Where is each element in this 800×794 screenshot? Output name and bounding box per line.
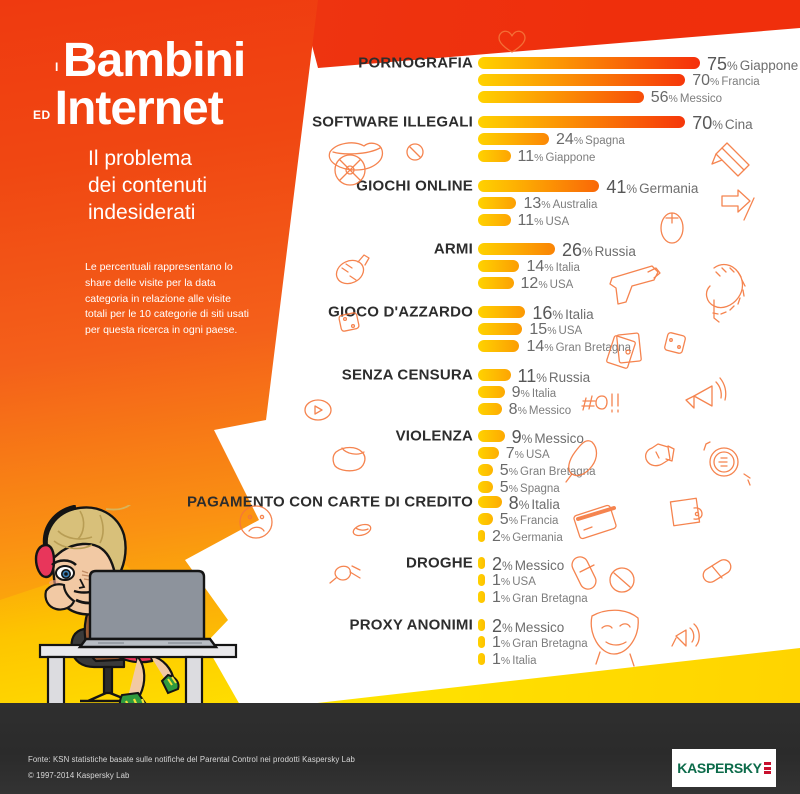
bar-percent-value: 75 [707, 54, 727, 74]
bar-value-label: 13%Australia [523, 195, 597, 213]
bar [478, 277, 514, 289]
bar-percent-sign: % [509, 466, 518, 478]
bar-percent-value: 15 [529, 321, 547, 338]
bar-country-label: Giappone [546, 152, 596, 164]
bar-country-label: Francia [520, 515, 558, 527]
bar-percent-sign: % [544, 342, 553, 354]
bar-value-label: 70%Cina [692, 113, 752, 134]
bar-country-label: Messico [515, 620, 565, 635]
bar-percent-sign: % [626, 182, 637, 196]
bar-percent-value: 13 [523, 195, 541, 212]
bar-country-label: Italia [531, 497, 560, 512]
bar [478, 133, 549, 145]
bar-percent-value: 24 [556, 131, 574, 148]
bar-percent-value: 12 [521, 275, 539, 292]
bar [478, 57, 700, 69]
bar-percent-value: 5 [500, 479, 509, 496]
bar [478, 513, 493, 525]
bar-value-label: 1%Gran Bretagna [492, 634, 588, 652]
bar-value-label: 11%Giappone [518, 148, 596, 166]
bar-percent-value: 1 [492, 634, 501, 651]
kaspersky-logo-text: KASPERSKY [677, 760, 761, 776]
bar-percent-value: 11 [518, 148, 535, 165]
bar-percent-value: 7 [506, 445, 515, 462]
bar-row: 56%Messico [478, 91, 722, 103]
bar-percent-sign: % [669, 93, 678, 105]
bar-row: 2%Germania [478, 530, 563, 542]
bar-percent-value: 14 [526, 338, 544, 355]
bar-row: 41%Germania [478, 180, 698, 192]
bar [478, 74, 685, 86]
bar-country-label: Italia [532, 388, 556, 400]
bar-row: 5%Gran Bretagna [478, 464, 595, 476]
bar-row: 5%Francia [478, 513, 558, 525]
kaspersky-logo[interactable]: KASPERSKY [672, 749, 776, 787]
bar-percent-value: 2 [492, 616, 502, 636]
bar [478, 116, 685, 128]
bar-row: 75%Giappone [478, 57, 798, 69]
bar-percent-value: 9 [512, 427, 522, 447]
bar-percent-value: 11 [518, 366, 537, 386]
bar-value-label: 9%Italia [512, 384, 557, 402]
footer-copyright: © 1997-2014 Kaspersky Lab [28, 768, 355, 784]
bar-percent-sign: % [501, 532, 510, 544]
category-label: PORNOGRAFIA [358, 55, 473, 72]
category-label: VIOLENZA [396, 428, 473, 445]
bar-row: 11%Giappone [478, 150, 595, 162]
bar [478, 323, 522, 335]
bar-row: 1%Gran Bretagna [478, 636, 588, 648]
bar-row: 9%Messico [478, 430, 584, 442]
bar-value-label: 11%USA [518, 212, 570, 230]
bar [478, 91, 644, 103]
bar [478, 197, 516, 209]
bar [478, 243, 555, 255]
bar-country-label: Germania [639, 181, 698, 196]
bar-country-label: Russia [549, 370, 590, 385]
bar-percent-value: 8 [509, 493, 519, 513]
bar-row: 14%Italia [478, 260, 580, 272]
bar-percent-value: 56 [651, 89, 669, 106]
bar-row: 70%Francia [478, 74, 760, 86]
bar [478, 496, 502, 508]
bar-percent-sign: % [518, 405, 527, 417]
bar [478, 591, 485, 603]
category-label: ARMI [434, 241, 473, 258]
bar-value-label: 15%USA [529, 321, 582, 339]
bar-value-label: 2%Germania [492, 528, 563, 546]
bar-row: 70%Cina [478, 116, 753, 128]
footer-source: Fonte: KSN statistiche basate sulle noti… [28, 752, 355, 768]
bar [478, 430, 505, 442]
bar-row: 1%USA [478, 574, 536, 586]
bar [478, 530, 485, 542]
bar-percent-sign: % [501, 593, 510, 605]
bar [478, 340, 519, 352]
bar-value-label: 7%USA [506, 445, 550, 463]
bar-percent-sign: % [574, 135, 583, 147]
bar [478, 636, 485, 648]
bar-percent-value: 11 [518, 212, 535, 229]
bar-percent-sign: % [552, 308, 563, 322]
bar-row: 8%Italia [478, 496, 560, 508]
bar-row: 7%USA [478, 447, 550, 459]
bar-percent-sign: % [544, 262, 553, 274]
bar-country-label: Gran Bretagna [512, 593, 587, 605]
bar [478, 386, 505, 398]
bar-country-label: USA [546, 216, 570, 228]
bar [478, 260, 519, 272]
category-label: SENZA CENSURA [342, 367, 473, 384]
bar-percent-value: 70 [692, 113, 712, 133]
bar-percent-value: 8 [509, 401, 518, 418]
category-label: GIOCO D'AZZARDO [328, 304, 473, 321]
bar-country-label: Russia [595, 244, 636, 259]
bar-country-label: USA [550, 279, 574, 291]
bar-percent-value: 2 [492, 554, 502, 574]
bar-value-label: 1%USA [492, 572, 536, 590]
bar-country-label: Spagna [585, 135, 625, 147]
bar-country-label: Messico [515, 558, 565, 573]
bar-country-label: Giappone [740, 58, 799, 73]
bar-country-label: Italia [565, 307, 594, 322]
bar-country-label: Messico [680, 93, 722, 105]
bar-percent-sign: % [515, 449, 524, 461]
bar [478, 557, 485, 569]
bar-percent-value: 26 [562, 240, 582, 260]
bar-row: 15%USA [478, 323, 582, 335]
bar [478, 481, 493, 493]
category-label: DROGHE [406, 555, 473, 572]
bar-percent-sign: % [534, 216, 543, 228]
bar-percent-sign: % [519, 498, 530, 512]
bar [478, 180, 599, 192]
category-label: PROXY ANONIMI [350, 617, 473, 634]
bar-percent-sign: % [534, 152, 543, 164]
bar-row: 16%Italia [478, 306, 594, 318]
bar [478, 306, 525, 318]
bar-percent-value: 5 [500, 511, 509, 528]
bar-percent-sign: % [501, 638, 510, 650]
kaspersky-logo-mark [764, 762, 771, 774]
bar-percent-sign: % [522, 432, 533, 446]
kid-at-computer-illustration [18, 505, 263, 720]
bar-row: 12%USA [478, 277, 573, 289]
bar-row: 1%Gran Bretagna [478, 591, 588, 603]
bar-percent-sign: % [502, 621, 513, 635]
bar-country-label: USA [559, 325, 583, 337]
bar-country-label: Gran Bretagna [556, 342, 631, 354]
bar-row: 1%Italia [478, 653, 537, 665]
bar-percent-sign: % [536, 371, 547, 385]
bar-value-label: 14%Italia [526, 258, 579, 276]
bar-country-label: Francia [721, 76, 759, 88]
bar [478, 653, 485, 665]
bar-percent-sign: % [541, 199, 550, 211]
bar-value-label: 24%Spagna [556, 131, 625, 149]
bar-percent-value: 1 [492, 589, 501, 606]
bar-value-label: 1%Gran Bretagna [492, 589, 588, 607]
bar-percent-sign: % [547, 325, 556, 337]
bar-percent-sign: % [710, 76, 719, 88]
bar-value-label: 56%Messico [651, 89, 722, 107]
bar-value-label: 14%Gran Bretagna [526, 338, 631, 356]
bar-percent-value: 1 [492, 651, 501, 668]
bar-percent-sign: % [521, 388, 530, 400]
bar [478, 464, 493, 476]
bar-value-label: 5%Gran Bretagna [500, 462, 596, 480]
bar-row: 14%Gran Bretagna [478, 340, 631, 352]
infographic-canvas: I Bambini ED Internet Il problema dei co… [0, 0, 800, 794]
bar [478, 150, 511, 162]
bar-row: 2%Messico [478, 619, 564, 631]
bar-row: 2%Messico [478, 557, 564, 569]
bar-country-label: Gran Bretagna [520, 466, 595, 478]
bar-country-label: Cina [725, 117, 753, 132]
bar-country-label: Gran Bretagna [512, 638, 587, 650]
laptop [80, 571, 216, 647]
bar-row: 5%Spagna [478, 481, 560, 493]
bar-percent-sign: % [538, 279, 547, 291]
bar-percent-value: 5 [500, 462, 509, 479]
bar-row: 11%Russia [478, 369, 590, 381]
bar-percent-sign: % [727, 59, 738, 73]
bar-percent-sign: % [509, 515, 518, 527]
bar-country-label: Australia [553, 199, 598, 211]
category-label: SOFTWARE ILLEGALI [312, 114, 473, 131]
bar-percent-value: 41 [606, 177, 626, 197]
bar-country-label: USA [512, 576, 536, 588]
bar [478, 619, 485, 631]
bar [478, 214, 511, 226]
bar-percent-sign: % [501, 576, 510, 588]
category-label: GIOCHI ONLINE [356, 178, 473, 195]
bar-row: 9%Italia [478, 386, 556, 398]
bar-row: 24%Spagna [478, 133, 625, 145]
bar-percent-sign: % [501, 655, 510, 667]
bar-value-label: 8%Messico [509, 401, 571, 419]
bar-country-label: Italia [556, 262, 580, 274]
bar-percent-sign: % [712, 118, 723, 132]
bar-value-label: 12%USA [521, 275, 574, 293]
bar-percent-value: 14 [526, 258, 544, 275]
bar-percent-sign: % [502, 559, 513, 573]
footer-text: Fonte: KSN statistiche basate sulle noti… [28, 752, 355, 783]
bar-value-label: 41%Germania [606, 177, 698, 198]
bar-percent-value: 1 [492, 572, 501, 589]
bar-row: 26%Russia [478, 243, 636, 255]
bar-value-label: 5%Francia [500, 511, 559, 529]
bar [478, 574, 485, 586]
bar [478, 403, 502, 415]
bar-row: 11%USA [478, 214, 569, 226]
bar-percent-value: 70 [692, 72, 710, 89]
bar-percent-value: 16 [532, 303, 552, 323]
bar-value-label: 1%Italia [492, 651, 537, 669]
bar-percent-value: 9 [512, 384, 521, 401]
bar-country-label: Messico [534, 431, 584, 446]
bar-value-label: 70%Francia [692, 72, 760, 90]
bar-country-label: Messico [529, 405, 571, 417]
bar [478, 369, 511, 381]
bar-country-label: USA [526, 449, 550, 461]
bar-country-label: Germania [512, 532, 563, 544]
bar-row: 13%Australia [478, 197, 597, 209]
bar-country-label: Italia [512, 655, 536, 667]
bar-row: 8%Messico [478, 403, 571, 415]
bar-percent-sign: % [582, 245, 593, 259]
bar [478, 447, 499, 459]
bar-percent-value: 2 [492, 528, 501, 545]
